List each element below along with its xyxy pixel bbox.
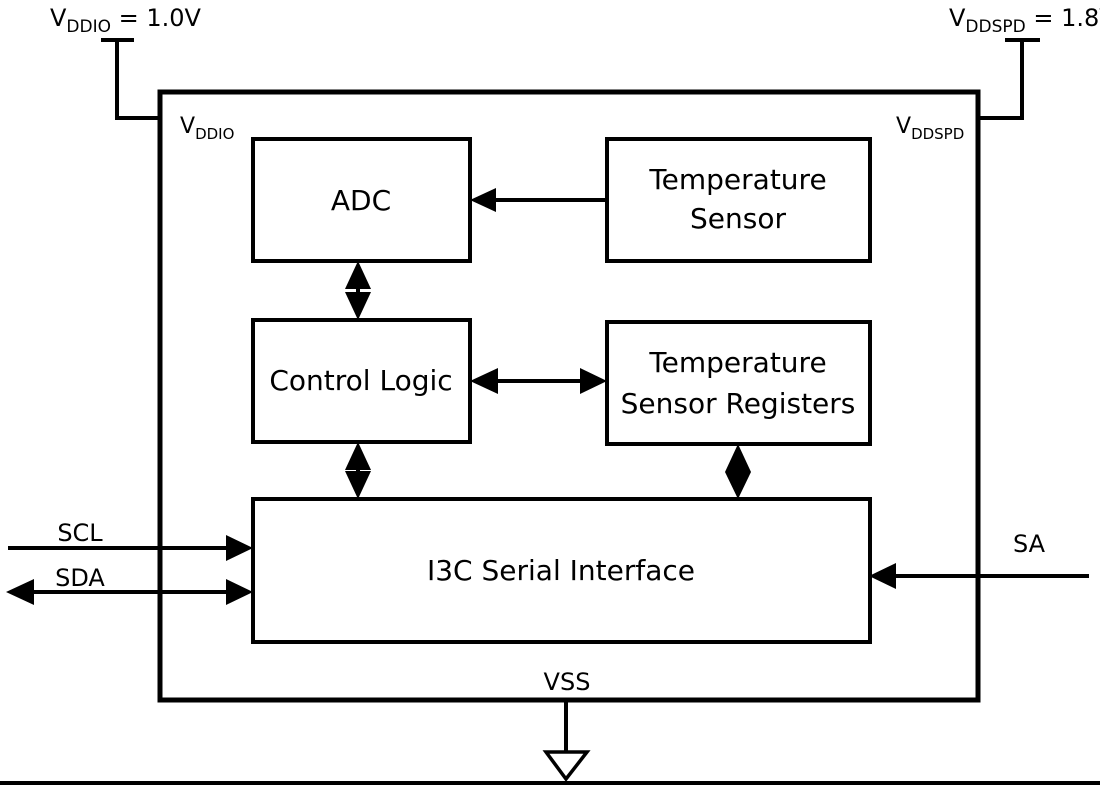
i3c-serial-interface-label: I3C Serial Interface	[427, 554, 695, 587]
sa-label: SA	[1013, 530, 1046, 558]
temperature-sensor-registers-label-line2: Sensor Registers	[621, 387, 856, 420]
block-adc[interactable]: ADC	[253, 139, 470, 261]
temperature-sensor-label-line2: Sensor	[690, 202, 786, 235]
temperature-sensor-box[interactable]	[607, 139, 870, 261]
vddio-supply-label: VDDIO = 1.0V	[50, 4, 202, 37]
ground-icon	[546, 752, 587, 779]
vss-label: VSS	[544, 668, 591, 696]
sda-arrow-head-left	[6, 579, 34, 605]
temperature-sensor-label-line1: Temperature	[648, 163, 826, 196]
block-control-logic[interactable]: Control Logic	[253, 320, 470, 442]
adc-label: ADC	[331, 184, 391, 217]
temperature-sensor-registers-label-line1: Temperature	[648, 346, 826, 379]
temperature-sensor-registers-box[interactable]	[607, 322, 870, 444]
scl-label: SCL	[57, 519, 103, 547]
block-temperature-sensor[interactable]: Temperature Sensor	[607, 139, 870, 261]
control-logic-label: Control Logic	[269, 364, 452, 397]
block-temperature-sensor-registers[interactable]: Temperature Sensor Registers	[607, 322, 870, 444]
block-i3c-serial-interface[interactable]: I3C Serial Interface	[253, 499, 870, 642]
vddspd-supply-label: VDDSPD = 1.8V	[949, 4, 1100, 37]
sda-label: SDA	[55, 564, 105, 592]
signal-vss[interactable]: VSS	[544, 668, 591, 779]
block-diagram-canvas: VDDIO = 1.0V VDDSPD = 1.8V VDDIO VDDSPD …	[0, 0, 1100, 786]
block-diagram: VDDIO = 1.0V VDDSPD = 1.8V VDDIO VDDSPD …	[0, 0, 1100, 786]
